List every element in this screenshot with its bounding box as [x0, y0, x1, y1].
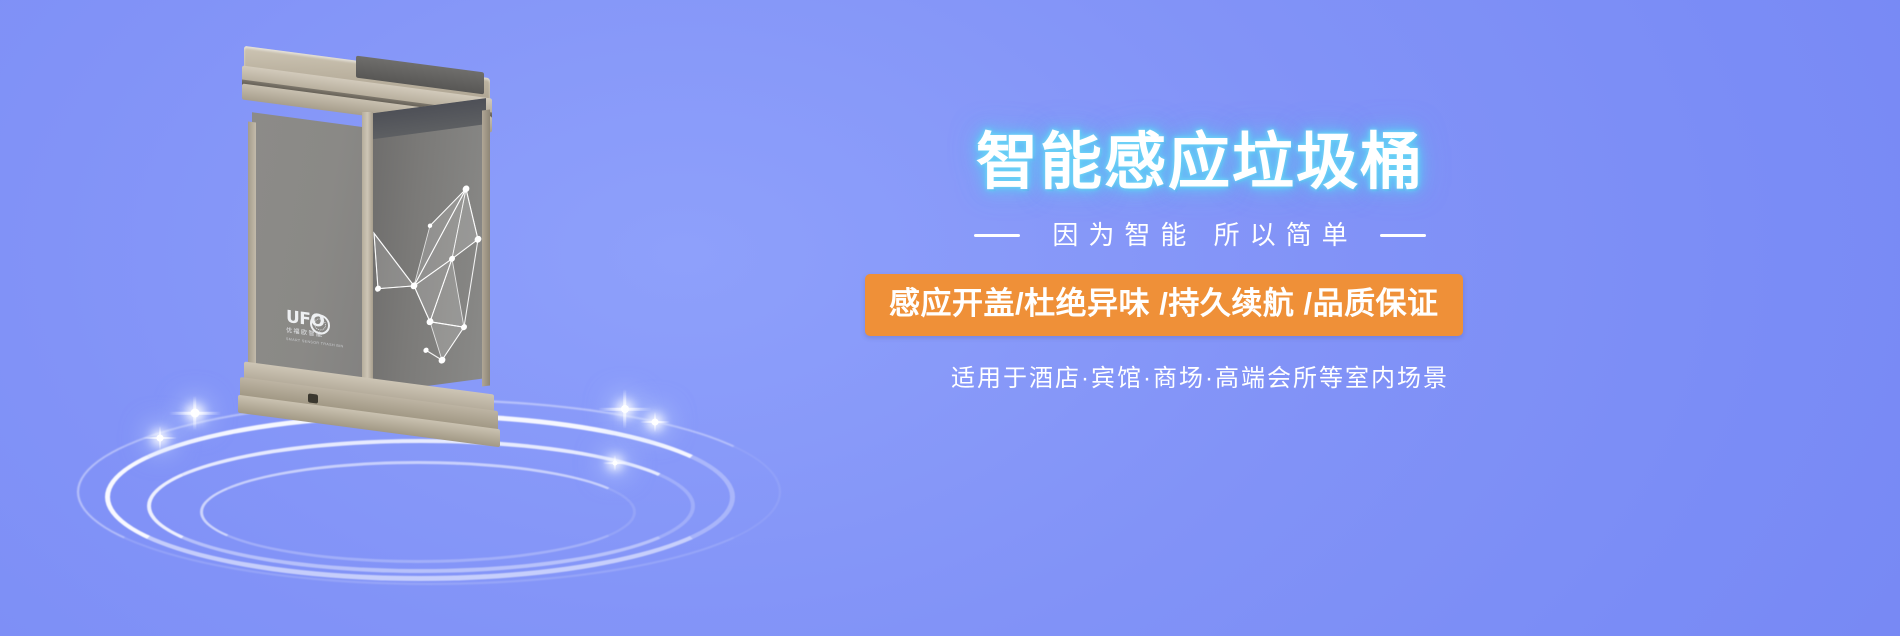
banner-subtitle: 因为智能 所以简单: [1042, 218, 1357, 252]
bin-corner-edge: [362, 112, 373, 394]
dash-left-icon: [974, 234, 1020, 237]
bin-face-left: [252, 112, 368, 399]
banner-title: 智能感应垃圾桶: [880, 128, 1520, 198]
bin-left-edge-trim: [248, 121, 256, 394]
dash-right-icon: [1380, 234, 1426, 237]
ripple-ring-3: [200, 461, 636, 563]
copy-block: 智能感应垃圾桶 因为智能 所以简单 感应开盖/杜绝异味 /持久续航 /品质保证 …: [880, 0, 1900, 636]
polygon-network-icon: [368, 98, 488, 394]
promo-banner: UFO 优福欧智能 SMART SENSOR TRASH BIN 智能感应垃圾桶…: [0, 0, 1900, 636]
bin-right-edge-trim: [482, 109, 490, 386]
bin-sensor-port: [308, 393, 318, 403]
feature-highlight-bar: 感应开盖/杜绝异味 /持久续航 /品质保证: [865, 274, 1463, 336]
banner-subtitle-row: 因为智能 所以简单: [880, 218, 1520, 252]
ufo-brand-logo: UFO 优福欧智能 SMART SENSOR TRASH BIN: [286, 309, 348, 357]
trash-bin-product: UFO 优福欧智能 SMART SENSOR TRASH BIN: [238, 58, 506, 440]
usage-scenes-text: 适用于酒店·宾馆·商场·高端会所等室内场景: [880, 362, 1520, 396]
bin-polygon-graphic: [368, 98, 488, 394]
product-scene: UFO 优福欧智能 SMART SENSOR TRASH BIN: [0, 0, 840, 636]
feature-highlight-text: 感应开盖/杜绝异味 /持久续航 /品质保证: [889, 285, 1439, 323]
